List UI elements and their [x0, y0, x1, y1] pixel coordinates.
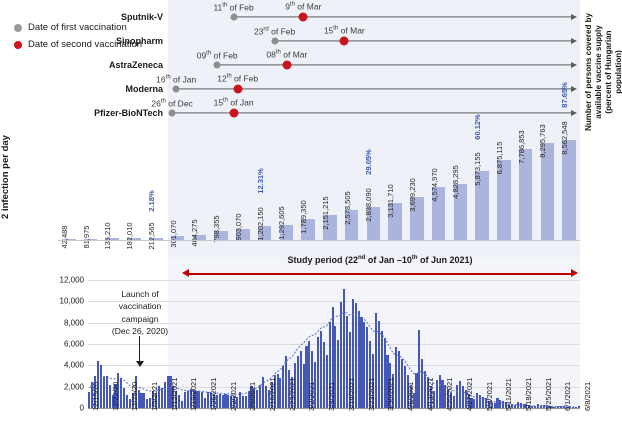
figure-container: Date of first vaccination Date of second… — [0, 0, 622, 443]
vaccination-date-label: 15th of Mar — [324, 26, 365, 36]
supply-value-label: 1,202,150 — [256, 207, 265, 240]
supply-bar: 4,828,295 — [454, 140, 467, 240]
x-axis-tick-label: 5/18/2021 — [524, 378, 533, 411]
timeline-arrow-icon — [571, 62, 577, 68]
supply-bar: 8,562,54887.65% — [562, 140, 575, 240]
x-axis-tick-label: 1/26/2021 — [209, 378, 218, 411]
second-vaccination-marker: 15th of Jan — [229, 109, 238, 118]
supply-percent-label: 87.65% — [560, 83, 569, 108]
supply-axis-title: Number of persons covered by available v… — [584, 12, 620, 132]
arrow-right-icon — [571, 269, 578, 277]
supply-value-label: 1,292,605 — [277, 206, 286, 239]
supply-percent-label: 60.12% — [473, 114, 482, 139]
vaccination-date-label: 09th of Feb — [197, 51, 238, 61]
x-axis-tick-label: 3/2/2021 — [307, 382, 316, 411]
timeline-arrow-icon — [571, 110, 577, 116]
y-axis-tick-label: 6,000 — [64, 340, 88, 349]
supply-bar: 2,838,09029.05% — [367, 140, 380, 240]
supply-bar: 798,355 — [214, 140, 227, 240]
supply-value-label: 301,070 — [169, 221, 178, 248]
supply-bar: 301,070 — [171, 140, 184, 240]
legend-label-first: Date of first vaccination — [28, 22, 127, 33]
supply-baseline — [58, 240, 580, 241]
x-axis-tick-label: 6/1/2021 — [563, 382, 572, 411]
supply-value-label: 42,488 — [60, 225, 69, 248]
vaccination-date-label: 26th of Dec — [151, 99, 192, 109]
supply-percent-label: 2.18% — [147, 191, 156, 212]
vaccination-date-label: 16th of Jan — [156, 75, 196, 85]
vaccination-date-label: 08th of Mar — [266, 50, 307, 60]
supply-value-label: 3,699,230 — [408, 178, 417, 211]
first-vaccination-marker: 16th of Jan — [173, 86, 180, 93]
supply-value-label: 1,789,350 — [299, 200, 308, 233]
x-axis-tick-label: 3/16/2021 — [347, 378, 356, 411]
timeline-line — [217, 64, 571, 65]
supply-value-label: 2,838,090 — [364, 188, 373, 221]
vaccine-name-label: Pfizer-BioNTech — [94, 108, 168, 118]
supply-bar: 5,873,15560.12% — [475, 140, 488, 240]
annotation-line: Launch of — [88, 288, 192, 300]
supply-percent-label: 29.05% — [364, 149, 373, 174]
first-vaccination-marker: 11th of Feb — [230, 14, 237, 21]
supply-value-label: 4,828,295 — [451, 165, 460, 198]
supply-bar: 212,5652.18% — [149, 140, 162, 240]
supply-value-label: 8,562,548 — [560, 121, 569, 154]
legend-item-first-vaccination: Date of first vaccination — [14, 20, 142, 35]
supply-value-label: 81,975 — [82, 225, 91, 248]
arrow-left-icon — [182, 269, 189, 277]
x-axis-tick-label: 5/11/2021 — [504, 378, 513, 411]
y-axis-tick-label: 12,000 — [60, 276, 88, 285]
x-axis-tick-label: 3/23/2021 — [367, 378, 376, 411]
supply-bar: 42,488 — [62, 140, 75, 240]
supply-bar: 4,574,970 — [432, 140, 445, 240]
timeline-arrow-icon — [571, 38, 577, 44]
annotation-arrow-icon — [136, 361, 144, 367]
supply-bar-rect — [562, 140, 575, 240]
x-axis-tick-label: 4/13/2021 — [426, 378, 435, 411]
timeline-line — [234, 16, 571, 17]
study-period-line — [188, 273, 572, 275]
supply-value-label: 903,070 — [234, 214, 243, 241]
red-circle-icon — [14, 41, 22, 49]
x-axis-tick-label: 6/8/2021 — [583, 382, 592, 411]
x-axis-tick-label: 4/20/2021 — [445, 378, 454, 411]
first-vaccination-marker: 23rd of Feb — [271, 38, 278, 45]
timeline-row-pfizer-biontech: Pfizer-BioNTech26th of Dec15th of Jan — [168, 102, 578, 124]
x-axis-tick-label: 12/22/20 — [111, 382, 120, 411]
x-axis-tick-label: 2/23/2021 — [288, 378, 297, 411]
vaccination-date-label: 15th of Jan — [214, 98, 254, 108]
second-vaccination-marker: 15th of Mar — [340, 37, 349, 46]
x-axis-tick-label: 1/19/2021 — [189, 378, 198, 411]
supply-bar: 182,010 — [127, 140, 140, 240]
vaccine-name-label: Sinopharm — [116, 36, 168, 46]
supply-bar: 903,070 — [236, 140, 249, 240]
y-axis-tick-label: 4,000 — [64, 361, 88, 370]
supply-value-label: 7,786,853 — [517, 130, 526, 163]
timeline-row-sputnik-v: Sputnik-V11th of Feb9th of Mar — [168, 6, 578, 28]
supply-value-label: 404,275 — [190, 220, 199, 247]
supply-bar: 2,578,505 — [345, 140, 358, 240]
vaccination-date-label: 11th of Feb — [213, 3, 253, 13]
supply-bar: 1,202,15012.31% — [258, 140, 271, 240]
x-axis-tick-label: 3/9/2021 — [327, 382, 336, 411]
study-period-label: Study period (22nd of Jan –10th of Jun 2… — [287, 255, 472, 265]
supply-bar: 1,789,350 — [301, 140, 314, 240]
supply-bar: 6,875,115 — [497, 140, 510, 240]
timeline-arrow-icon — [571, 86, 577, 92]
vaccine-name-label: AstraZeneca — [109, 60, 168, 70]
x-axis-tick-label: 4/27/2021 — [465, 378, 474, 411]
timeline-row-sinopharm: Sinopharm23rd of Feb15th of Mar — [168, 30, 578, 52]
infection-axis-title: Number of confirmed SARS-CoV-2 infection… — [0, 102, 13, 252]
first-vaccination-marker: 09th of Feb — [214, 62, 221, 69]
x-axis-tick-label: 1/12/2021 — [170, 378, 179, 411]
x-axis-tick-label: 5/4/2021 — [485, 382, 494, 411]
supply-value-label: 8,295,763 — [538, 124, 547, 157]
vaccine-name-label: Moderna — [125, 84, 168, 94]
supply-percent-label: 12.31% — [256, 169, 265, 194]
first-vaccination-marker: 26th of Dec — [169, 110, 176, 117]
supply-value-label: 2,151,215 — [321, 196, 330, 229]
grey-circle-icon — [14, 24, 22, 32]
supply-value-label: 2,578,505 — [343, 191, 352, 224]
x-axis-tick-label: 2/16/2021 — [268, 378, 277, 411]
annotation-line: campaign — [88, 313, 192, 325]
timeline-line — [275, 40, 571, 41]
supply-bar: 135,210 — [106, 140, 119, 240]
supply-value-label: 798,355 — [212, 215, 221, 242]
second-vaccination-marker: 08th of Mar — [282, 61, 291, 70]
timeline-arrow-icon — [571, 14, 577, 20]
vaccination-date-label: 23rd of Feb — [254, 27, 295, 37]
x-axis-tick-label: 2/2/2021 — [229, 382, 238, 411]
annotation-pointer-line — [139, 336, 140, 362]
supply-value-label: 5,873,155 — [473, 153, 482, 186]
study-period-arrow: Study period (22nd of Jan –10th of Jun 2… — [182, 258, 578, 280]
x-axis-tick-label: 1/5/2021 — [150, 382, 159, 411]
x-axis-tick-label: 4/6/2021 — [406, 382, 415, 411]
y-axis-tick-label: 8,000 — [64, 318, 88, 327]
vaccination-date-label: 9th of Mar — [285, 2, 321, 12]
second-vaccination-marker: 12th of Feb — [233, 85, 242, 94]
supply-value-label: 4,574,970 — [430, 168, 439, 201]
supply-value-label: 182,010 — [125, 222, 134, 249]
supply-value-label: 212,565 — [147, 222, 156, 249]
supply-bar: 81,975 — [84, 140, 97, 240]
vaccine-name-label: Sputnik-V — [121, 12, 168, 22]
supply-bar: 7,786,853 — [519, 140, 532, 240]
supply-bar: 1,292,605 — [280, 140, 293, 240]
supply-bar: 8,295,763 — [541, 140, 554, 240]
y-axis-tick-label: 2,000 — [64, 382, 88, 391]
second-vaccination-marker: 9th of Mar — [299, 13, 308, 22]
x-axis-tick-label: 5/25/2021 — [544, 378, 553, 411]
supply-value-label: 6,875,115 — [495, 141, 504, 174]
vaccination-date-label: 12th of Feb — [217, 74, 258, 84]
x-axis-tick-label: 12/15/20 — [91, 382, 100, 411]
y-axis-tick-label: 0 — [80, 404, 88, 413]
y-axis-tick-label: 10,000 — [60, 297, 88, 306]
supply-bar: 404,275 — [193, 140, 206, 240]
x-axis-tick-label: 3/30/2021 — [386, 378, 395, 411]
supply-bar: 3,699,230 — [410, 140, 423, 240]
supply-value-label: 3,131,710 — [386, 185, 395, 218]
x-axis-tick-label: 2/9/2021 — [248, 382, 257, 411]
x-axis-tick-label: 12/29/20 — [130, 382, 139, 411]
supply-value-label: 135,210 — [103, 223, 112, 250]
supply-bar: 2,151,215 — [323, 140, 336, 240]
supply-bar: 3,131,710 — [388, 140, 401, 240]
annotation-line: vaccination — [88, 300, 192, 312]
vaccine-supply-bar-chart: 42,48881,975135,210182,010212,5652.18%30… — [58, 140, 580, 240]
vaccination-launch-annotation: Launch ofvaccinationcampaign(Dec 26, 202… — [88, 288, 192, 337]
